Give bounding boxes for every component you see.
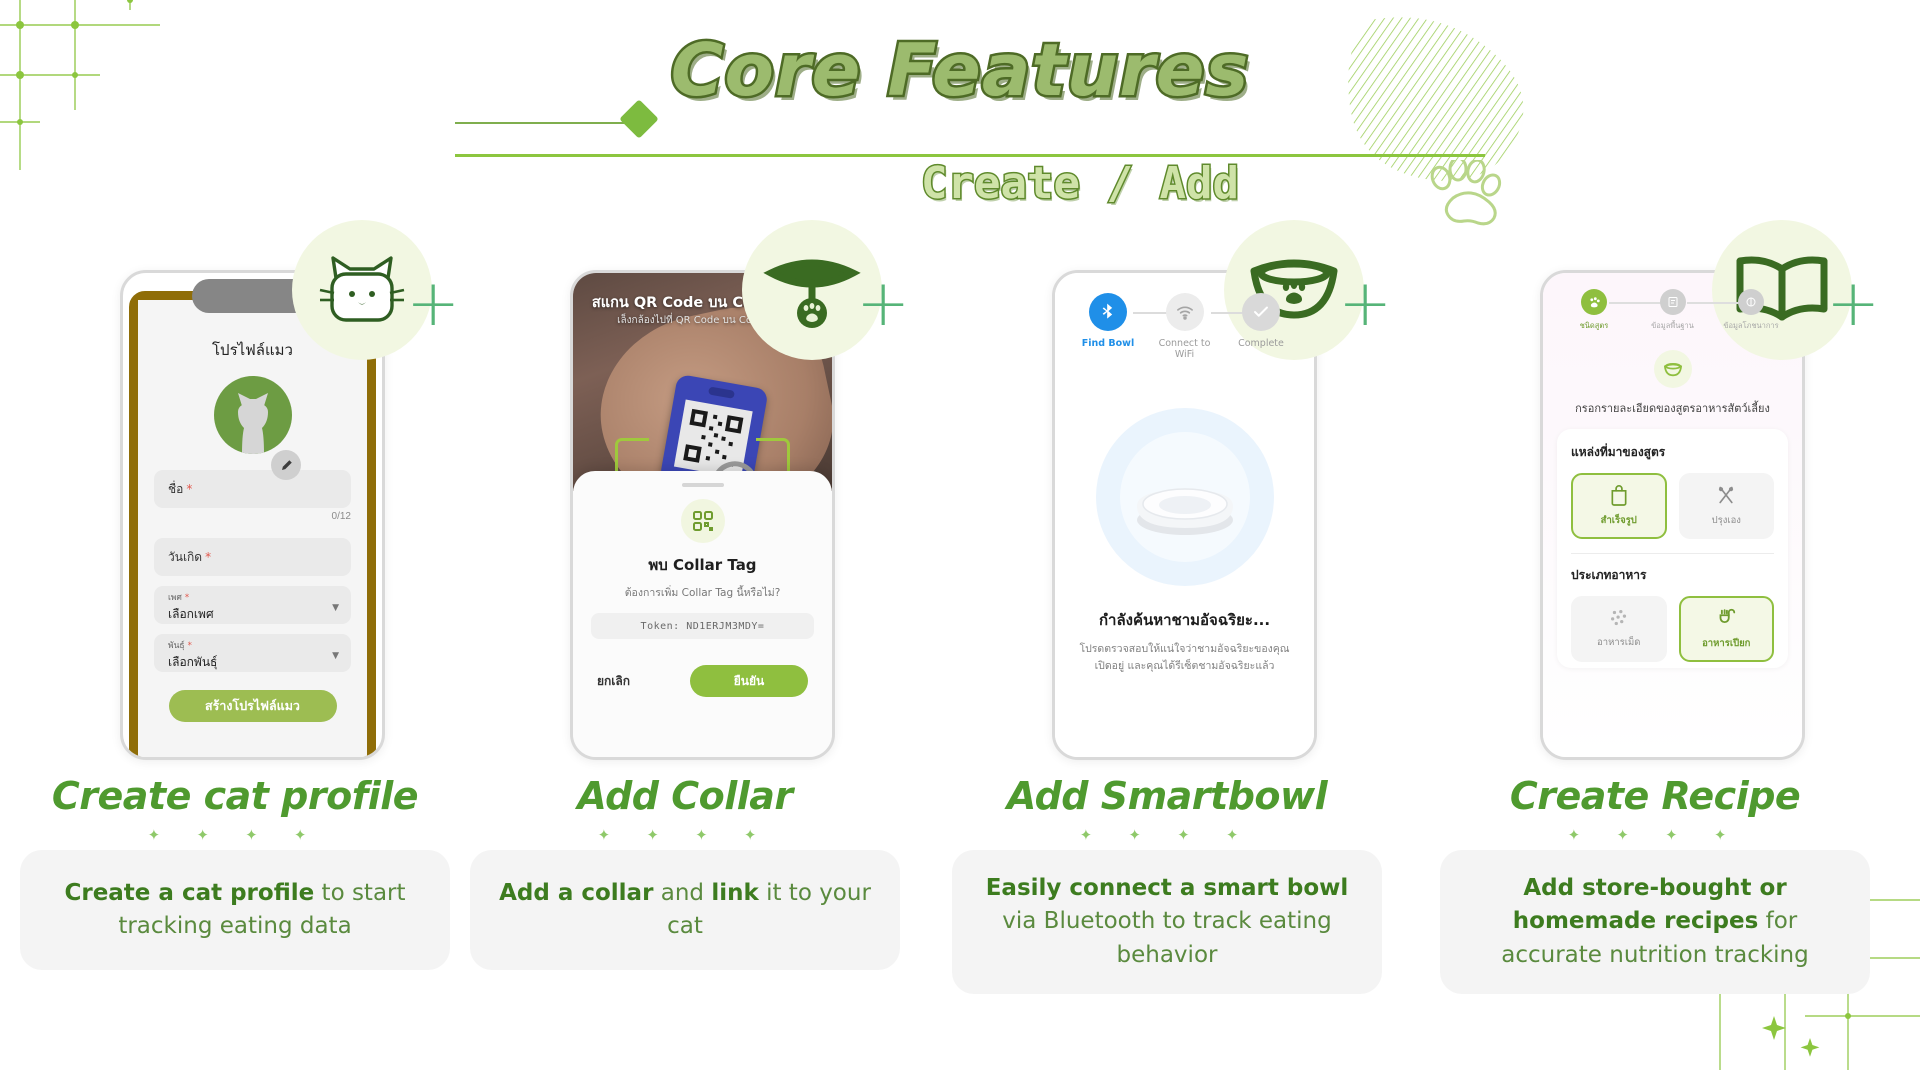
source-options: สำเร็จรูป ปรุงเอง bbox=[1571, 473, 1774, 539]
name-field[interactable]: ชื่อ * bbox=[154, 470, 351, 508]
type-option-wet-food[interactable]: อาหารเปียก bbox=[1679, 596, 1775, 662]
phone-mockup-wrapper: Find Bowl Connect to WiFi bbox=[952, 250, 1382, 760]
step-label: Complete bbox=[1224, 338, 1298, 349]
section-type-title: ประเภทอาหาร bbox=[1571, 566, 1774, 585]
option-label: อาหารเปียก bbox=[1702, 636, 1750, 651]
phone-mockup-wrapper: โปรไฟล์แมว ชื่อ * 0/ bbox=[20, 250, 450, 760]
required-marker: * bbox=[186, 482, 192, 496]
paw-step-icon bbox=[1581, 289, 1607, 315]
collar-icon bbox=[759, 237, 865, 343]
title-underline bbox=[455, 154, 1485, 157]
feature-description-card: Add store-bought or homemade recipes for… bbox=[1440, 850, 1870, 994]
type-option-dry-food[interactable]: อาหารเม็ด bbox=[1571, 596, 1667, 662]
app-border: โปรไฟล์แมว ชื่อ * 0/ bbox=[129, 291, 376, 757]
sparkle-divider: ✦ ✦ ✦ ✦ bbox=[20, 826, 450, 844]
breed-select-value: เลือกพันธุ์ bbox=[168, 653, 337, 672]
step-recipe-type[interactable]: ชนิดสูตร bbox=[1563, 289, 1625, 332]
step-connect-wifi[interactable]: Connect to WiFi bbox=[1148, 293, 1222, 360]
plus-icon: + bbox=[406, 272, 460, 336]
feature-caption: Create Recipe bbox=[1440, 774, 1870, 818]
bowl-icon bbox=[1654, 350, 1692, 388]
bowl-search-animation bbox=[1071, 400, 1298, 590]
gender-select[interactable]: เพศ* เลือกเพศ ▼ bbox=[154, 586, 351, 624]
page-title: Core Features bbox=[640, 28, 1280, 112]
check-icon bbox=[1242, 293, 1280, 331]
recipe-lead-text: กรอกรายละเอียดของสูตรอาหารสัตว์เลี้ยง bbox=[1557, 399, 1788, 417]
name-char-counter: 0/12 bbox=[154, 511, 351, 522]
plus-icon: + bbox=[1338, 272, 1392, 336]
sheet-description: ต้องการเพิ่ม Collar Tag นี้หรือไม่? bbox=[591, 584, 814, 601]
confirm-button[interactable]: ยืนยัน bbox=[690, 665, 808, 697]
birthdate-field-label: วันเกิด bbox=[168, 548, 202, 567]
feature-column-create-recipe: ชนิดสูตร ข้อมูลพื้นฐาน ข้อ bbox=[1440, 250, 1870, 994]
searching-title: กำลังค้นหาชามอัจฉริยะ... bbox=[1071, 608, 1298, 632]
form-step-icon bbox=[1660, 289, 1686, 315]
chevron-down-icon: ▼ bbox=[332, 651, 339, 661]
shopping-bag-icon bbox=[1609, 484, 1629, 506]
token-display: Token: ND1ERJM3MDY= bbox=[591, 613, 814, 639]
page-subtitle: Create / Add bbox=[880, 158, 1280, 209]
feature-column-add-collar: สแกน QR Code บน Collar Tag เล็งกล้องไปที… bbox=[470, 250, 900, 970]
cancel-button[interactable]: ยกเลิก bbox=[597, 672, 630, 691]
required-marker: * bbox=[188, 641, 192, 651]
divider bbox=[1571, 553, 1774, 554]
type-options: อาหารเม็ด อาหารเปียก bbox=[1571, 596, 1774, 662]
feature-description-text: Add store-bought or homemade recipes for… bbox=[1466, 872, 1844, 972]
option-label: อาหารเม็ด bbox=[1597, 635, 1640, 650]
step-label: ข้อมูลโภชนาการ bbox=[1720, 320, 1782, 332]
feature-caption: Create cat profile bbox=[20, 774, 450, 818]
decorative-sparkle-bottom bbox=[1760, 1010, 1830, 1070]
breed-select[interactable]: พันธุ์* เลือกพันธุ์ ▼ bbox=[154, 634, 351, 672]
title-rule-line bbox=[455, 122, 645, 124]
step-label: Find Bowl bbox=[1071, 338, 1145, 349]
source-option-homemade[interactable]: ปรุงเอง bbox=[1679, 473, 1775, 539]
section-source-title: แหล่งที่มาของสูตร bbox=[1571, 443, 1774, 462]
ladle-icon bbox=[1715, 607, 1737, 629]
cat-face-icon bbox=[310, 238, 414, 342]
feature-column-create-cat-profile: โปรไฟล์แมว ชื่อ * 0/ bbox=[20, 250, 450, 970]
slide-header: Core Features Create / Add bbox=[0, 0, 1920, 230]
required-marker: * bbox=[205, 550, 211, 564]
feature-description-card: Add a collar and link it to your cat bbox=[470, 850, 900, 970]
source-option-store-bought[interactable]: สำเร็จรูป bbox=[1571, 473, 1667, 539]
sparkle-divider: ✦ ✦ ✦ ✦ bbox=[1440, 826, 1870, 844]
cat-avatar-icon[interactable] bbox=[214, 376, 292, 454]
required-marker: * bbox=[185, 593, 189, 603]
edit-avatar-button[interactable] bbox=[271, 450, 301, 480]
chevron-down-icon: ▼ bbox=[332, 603, 339, 613]
wifi-icon bbox=[1166, 293, 1204, 331]
name-field-label: ชื่อ bbox=[168, 480, 183, 499]
birthdate-field[interactable]: วันเกิด * bbox=[154, 538, 351, 576]
scan-frame-corner bbox=[756, 438, 790, 472]
paw-icon bbox=[1425, 160, 1503, 226]
searching-description: โปรดตรวจสอบให้แน่ใจว่าชามอัจฉริยะของคุณเ… bbox=[1071, 641, 1298, 675]
smartbowl-screen: Find Bowl Connect to WiFi bbox=[1055, 273, 1314, 757]
step-label: ชนิดสูตร bbox=[1563, 320, 1625, 332]
utensils-icon bbox=[1716, 484, 1736, 506]
feature-description-text: Create a cat profile to start tracking e… bbox=[46, 877, 424, 944]
sparkle-divider: ✦ ✦ ✦ ✦ bbox=[952, 826, 1382, 844]
sheet-grabber[interactable] bbox=[682, 483, 724, 487]
create-cat-profile-button[interactable]: สร้างโปรไฟล์แมว bbox=[169, 690, 337, 722]
scan-frame-corner bbox=[615, 438, 649, 472]
found-tag-sheet: พบ Collar Tag ต้องการเพิ่ม Collar Tag นี… bbox=[573, 471, 832, 757]
bluetooth-icon bbox=[1089, 293, 1127, 331]
qr-code-icon bbox=[681, 499, 725, 543]
feature-description-text: Add a collar and link it to your cat bbox=[496, 877, 874, 944]
option-label: ปรุงเอง bbox=[1712, 513, 1741, 528]
nutrition-step-icon bbox=[1738, 289, 1764, 315]
step-complete[interactable]: Complete bbox=[1224, 293, 1298, 349]
kibble-icon bbox=[1608, 608, 1630, 628]
smart-bowl-icon bbox=[1127, 462, 1243, 538]
feature-caption: Add Smartbowl bbox=[952, 774, 1382, 818]
step-basic-info[interactable]: ข้อมูลพื้นฐาน bbox=[1642, 289, 1704, 332]
sparkle-divider: ✦ ✦ ✦ ✦ bbox=[470, 826, 900, 844]
recipe-stepper: ชนิดสูตร ข้อมูลพื้นฐาน ข้อ bbox=[1557, 289, 1788, 332]
step-label: ข้อมูลพื้นฐาน bbox=[1642, 320, 1704, 332]
gender-select-label: เพศ bbox=[168, 593, 182, 603]
phone-frame-add-smartbowl: Find Bowl Connect to WiFi bbox=[1052, 270, 1317, 760]
cat-profile-screen: โปรไฟล์แมว ชื่อ * 0/ bbox=[138, 300, 367, 757]
phone-mockup-wrapper: ชนิดสูตร ข้อมูลพื้นฐาน ข้อ bbox=[1440, 250, 1870, 760]
sheet-title: พบ Collar Tag bbox=[591, 553, 814, 577]
step-find-bowl[interactable]: Find Bowl bbox=[1071, 293, 1145, 349]
step-label: Connect to WiFi bbox=[1148, 338, 1222, 360]
phone-mockup-wrapper: สแกน QR Code บน Collar Tag เล็งกล้องไปที… bbox=[470, 250, 900, 760]
feature-description-text: Easily connect a smart bowl via Bluetoot… bbox=[978, 872, 1356, 972]
plus-icon: + bbox=[1826, 272, 1880, 336]
gender-select-value: เลือกเพศ bbox=[168, 605, 337, 624]
plus-icon: + bbox=[856, 272, 910, 336]
feature-caption: Add Collar bbox=[470, 774, 900, 818]
feature-column-add-smartbowl: Find Bowl Connect to WiFi bbox=[952, 250, 1382, 994]
recipe-form-card: แหล่งที่มาของสูตร สำเร็จรูป bbox=[1557, 429, 1788, 668]
feature-description-card: Create a cat profile to start tracking e… bbox=[20, 850, 450, 970]
breed-select-label: พันธุ์ bbox=[168, 641, 185, 651]
step-nutrition-info[interactable]: ข้อมูลโภชนาการ bbox=[1720, 289, 1782, 332]
feature-description-card: Easily connect a smart bowl via Bluetoot… bbox=[952, 850, 1382, 994]
option-label: สำเร็จรูป bbox=[1601, 513, 1637, 528]
